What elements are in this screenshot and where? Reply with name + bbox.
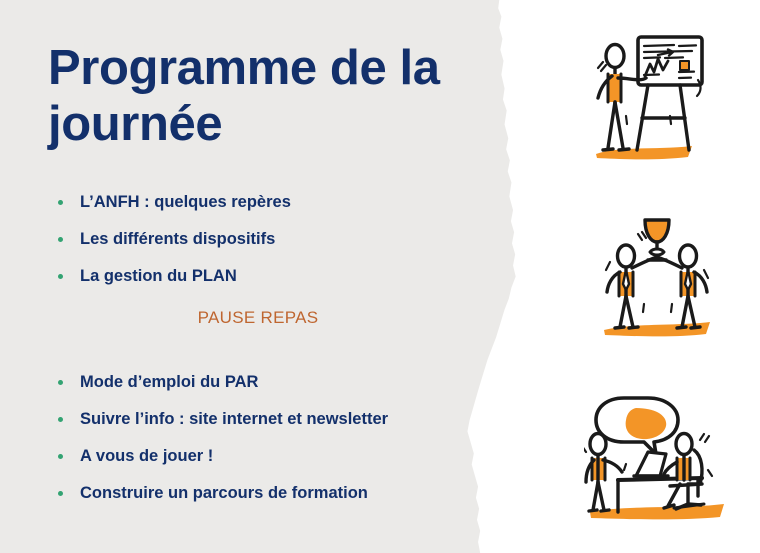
bullet-dot-icon — [58, 380, 63, 385]
list-item-label: L’ANFH : quelques repères — [80, 193, 291, 212]
list-item-label: A vous de jouer ! — [80, 447, 213, 466]
page-title: Programme de la journée — [48, 40, 478, 152]
two-people-holding-trophy-icon — [598, 212, 716, 347]
list-item-label: Construire un parcours de formation — [80, 484, 368, 503]
list-item[interactable]: L’ANFH : quelques repères — [58, 184, 488, 221]
list-item[interactable]: La gestion du PLAN — [58, 258, 488, 295]
list-item[interactable]: Les différents dispositifs — [58, 221, 488, 258]
list-item[interactable]: Construire un parcours de formation — [58, 475, 488, 512]
bullet-dot-icon — [58, 200, 63, 205]
slide: Programme de la journée L’ANFH : quelque… — [0, 0, 760, 553]
bullet-dot-icon — [58, 274, 63, 279]
bullet-dot-icon — [58, 491, 63, 496]
list-item-label: La gestion du PLAN — [80, 267, 237, 286]
agenda-list-afternoon: Mode d’emploi du PAR Suivre l’info : sit… — [58, 364, 488, 512]
person-talking-to-colleague-at-desk-icon — [584, 392, 732, 532]
presenter-at-flipchart-icon — [588, 28, 718, 168]
slide-content: Programme de la journée L’ANFH : quelque… — [0, 0, 530, 553]
agenda-list-morning: L’ANFH : quelques repères Les différents… — [58, 184, 488, 295]
bullet-dot-icon — [58, 417, 63, 422]
list-item-label: Les différents dispositifs — [80, 230, 275, 249]
bullet-dot-icon — [58, 454, 63, 459]
list-item[interactable]: A vous de jouer ! — [58, 438, 488, 475]
bullet-dot-icon — [58, 237, 63, 242]
list-item-label: Mode d’emploi du PAR — [80, 373, 258, 392]
list-item[interactable]: Suivre l’info : site internet et newslet… — [58, 401, 488, 438]
list-item-label: Suivre l’info : site internet et newslet… — [80, 410, 388, 429]
list-item[interactable]: Mode d’emploi du PAR — [58, 364, 488, 401]
lunch-break-label: PAUSE REPAS — [58, 308, 458, 328]
